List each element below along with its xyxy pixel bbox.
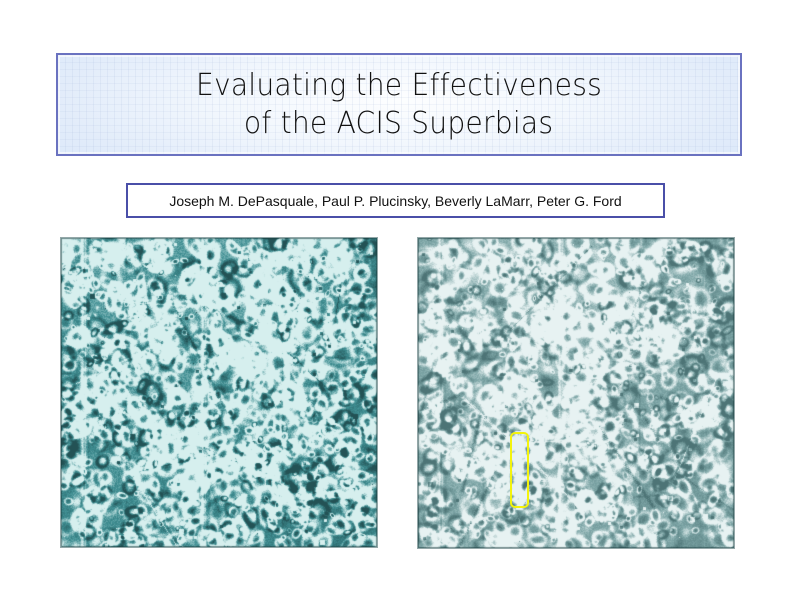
page-title-line-2: of the ACIS Superbias <box>244 105 553 143</box>
title-box: Evaluating the Effectiveness of the ACIS… <box>56 53 742 156</box>
detector-image-left-canvas <box>61 238 377 547</box>
acis-detector-image-left <box>61 238 377 547</box>
authors-list: Joseph M. DePasquale, Paul P. Plucinsky,… <box>169 193 621 209</box>
detector-image-right-canvas <box>418 238 734 548</box>
authors-box: Joseph M. DePasquale, Paul P. Plucinsky,… <box>126 183 665 218</box>
acis-detector-image-right <box>418 238 734 548</box>
page-title-line-1: Evaluating the Effectiveness <box>196 67 602 105</box>
